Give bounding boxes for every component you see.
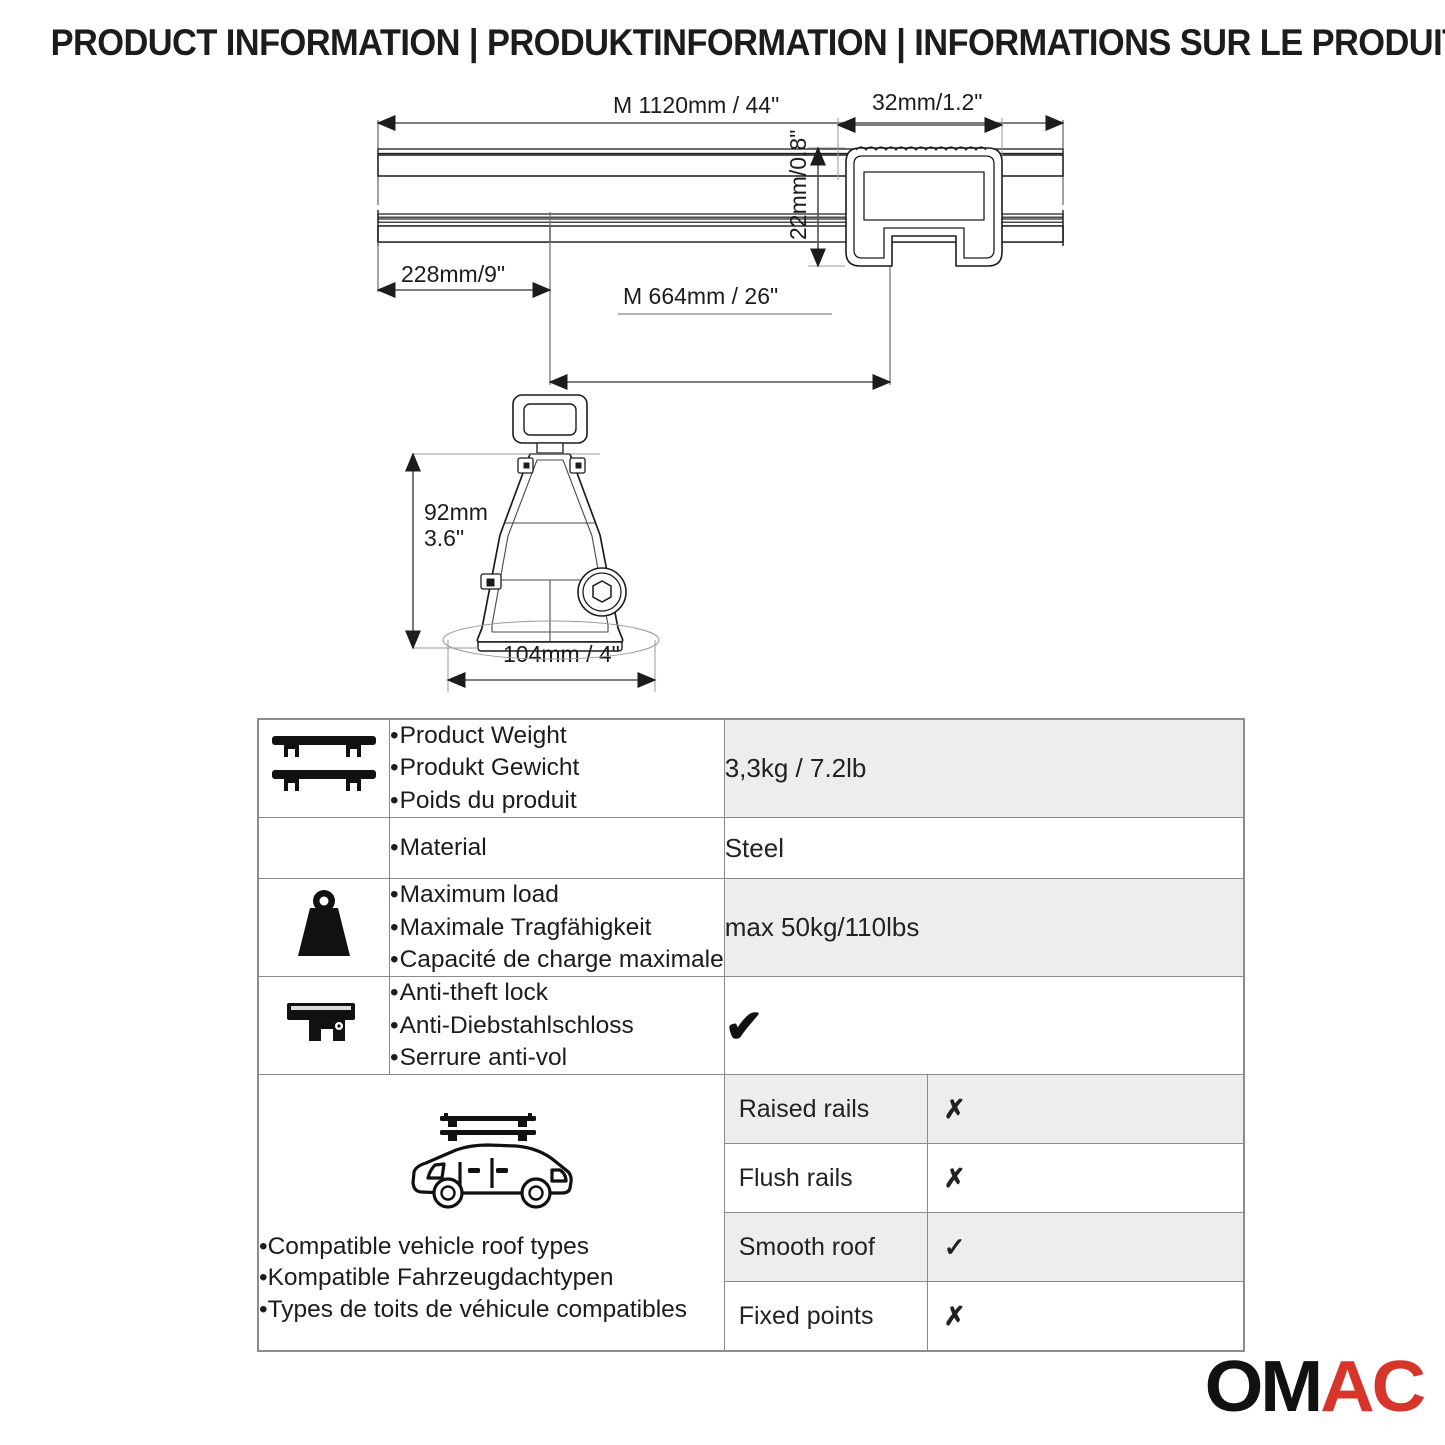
label-maximum-load: Maximum load Maximale Tragfähigkeit Capa… [390, 879, 725, 977]
roof-types-subtable: Raised rails ✗ Flush rails ✗ Smooth roof… [724, 1075, 1244, 1352]
label-anti-theft-lock: Anti-theft lock Anti-Diebstahlschloss Se… [390, 977, 725, 1075]
dim-foot-height-mm: 92mm [424, 499, 488, 525]
label-roof-compatibility: •Compatible vehicle roof types •Kompatib… [258, 1075, 724, 1352]
label-fr: Poids du produit [400, 787, 577, 814]
value-maximum-load: max 50kg/110lbs [724, 879, 1244, 977]
roof-type-row-raised-rails: Raised rails ✗ [725, 1075, 1243, 1144]
label-en: Anti-theft lock [400, 979, 548, 1006]
technical-drawing: M 1120mm / 44" [0, 80, 1445, 710]
label-fr: Types de toits de véhicule compatibles [268, 1296, 687, 1323]
dim-end-offset: 228mm/9" [401, 261, 505, 287]
lock-icon [258, 977, 390, 1075]
dim-foot-spacing: M 664mm / 26" [623, 283, 778, 309]
roof-type-mark: ✗ [927, 1144, 1243, 1213]
roof-type-name: Raised rails [725, 1075, 928, 1144]
dim-bar-total: M 1120mm / 44" [613, 92, 779, 118]
weight-icon [258, 879, 390, 977]
table-row-material: Material Steel [258, 817, 1244, 878]
lock-cylinder [578, 568, 626, 616]
label-en: Material [400, 834, 487, 861]
car-with-rack-icon [259, 1100, 724, 1221]
table-row-roof-compatibility: •Compatible vehicle roof types •Kompatib… [258, 1075, 1244, 1352]
table-row-product-weight: Product Weight Produkt Gewicht Poids du … [258, 719, 1244, 817]
label-de: Produkt Gewicht [400, 754, 580, 781]
logo-text-black: OM [1205, 1347, 1320, 1427]
roof-type-row-fixed-points: Fixed points ✗ [725, 1282, 1243, 1351]
material-icon-empty [258, 817, 390, 878]
roof-type-name: Fixed points [725, 1282, 928, 1351]
table-row-anti-theft-lock: Anti-theft lock Anti-Diebstahlschloss Se… [258, 977, 1244, 1075]
roof-type-row-flush-rails: Flush rails ✗ [725, 1144, 1243, 1213]
dim-profile-width: 32mm/1.2" [872, 89, 982, 115]
logo-text-red: AC [1320, 1347, 1423, 1427]
label-en: Product Weight [400, 722, 567, 749]
value-product-weight: 3,3kg / 7.2lb [724, 719, 1244, 817]
roof-type-mark: ✗ [927, 1075, 1243, 1144]
label-en: Maximum load [400, 881, 559, 908]
checkmark-icon: ✔ [725, 1000, 764, 1052]
label-material: Material [390, 817, 725, 878]
dim-foot-width: 104mm / 4" [503, 641, 620, 667]
label-fr: Serrure anti-vol [400, 1044, 567, 1071]
label-fr: Capacité de charge maximale [400, 946, 724, 973]
roof-type-row-smooth-roof: Smooth roof ✓ [725, 1213, 1243, 1282]
crossbars-icon [258, 719, 390, 817]
roof-type-name: Flush rails [725, 1144, 928, 1213]
label-product-weight: Product Weight Produkt Gewicht Poids du … [390, 719, 725, 817]
table-row-maximum-load: Maximum load Maximale Tragfähigkeit Capa… [258, 879, 1244, 977]
label-de: Kompatible Fahrzeugdachtypen [268, 1264, 614, 1291]
dim-profile-height: 22mm/0.8" [785, 130, 811, 240]
label-en: Compatible vehicle roof types [268, 1233, 589, 1260]
roof-type-name: Smooth roof [725, 1213, 928, 1282]
roof-compatibility-labels: •Compatible vehicle roof types •Kompatib… [259, 1231, 724, 1327]
roof-type-mark: ✓ [927, 1213, 1243, 1282]
roof-type-mark: ✗ [927, 1282, 1243, 1351]
page-title: PRODUCT INFORMATION | PRODUKTINFORMATION… [51, 22, 1395, 64]
value-material: Steel [724, 817, 1244, 878]
label-de: Maximale Tragfähigkeit [400, 914, 652, 941]
omac-logo: OMAC [1205, 1351, 1423, 1423]
specifications-table: Product Weight Produkt Gewicht Poids du … [257, 718, 1245, 1352]
product-information-page: PRODUCT INFORMATION | PRODUKTINFORMATION… [0, 0, 1445, 1445]
value-anti-theft-lock: ✔ [724, 977, 1244, 1075]
label-de: Anti-Diebstahlschloss [400, 1012, 634, 1039]
dim-foot-height-in: 3.6" [424, 525, 464, 551]
